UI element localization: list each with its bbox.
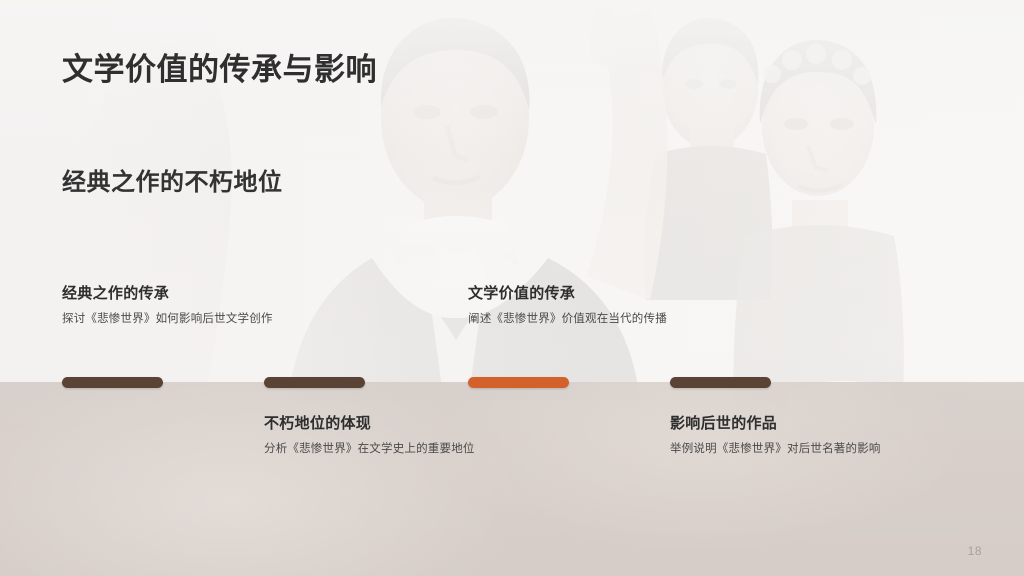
card-title: 不朽地位的体现	[264, 415, 475, 433]
timeline-bar-1[interactable]	[62, 377, 163, 388]
card-description: 举例说明《悲惨世界》对后世名著的影响	[670, 442, 881, 457]
slide-content: 文学价值的传承与影响 经典之作的不朽地位 经典之作的传承 探讨《悲惨世界》如何影…	[0, 0, 1024, 576]
content-card-1[interactable]: 经典之作的传承 探讨《悲惨世界》如何影响后世文学创作	[62, 285, 273, 327]
card-description: 探讨《悲惨世界》如何影响后世文学创作	[62, 312, 273, 327]
section-subtitle: 经典之作的不朽地位	[62, 162, 283, 197]
card-description: 分析《悲惨世界》在文学史上的重要地位	[264, 442, 475, 457]
page-title: 文学价值的传承与影响	[62, 44, 377, 89]
card-title: 文学价值的传承	[468, 285, 667, 303]
timeline-bar-2[interactable]	[264, 377, 365, 388]
card-title: 经典之作的传承	[62, 285, 273, 303]
slide-canvas: 文学价值的传承与影响 经典之作的不朽地位 经典之作的传承 探讨《悲惨世界》如何影…	[0, 0, 1024, 576]
content-card-4[interactable]: 影响后世的作品 举例说明《悲惨世界》对后世名著的影响	[670, 415, 881, 457]
page-number: 18	[968, 544, 982, 558]
timeline-bar-3[interactable]	[468, 377, 569, 388]
card-title: 影响后世的作品	[670, 415, 881, 433]
card-description: 阐述《悲惨世界》价值观在当代的传播	[468, 312, 667, 327]
content-card-2[interactable]: 不朽地位的体现 分析《悲惨世界》在文学史上的重要地位	[264, 415, 475, 457]
timeline-bar-4[interactable]	[670, 377, 771, 388]
content-card-3[interactable]: 文学价值的传承 阐述《悲惨世界》价值观在当代的传播	[468, 285, 667, 327]
